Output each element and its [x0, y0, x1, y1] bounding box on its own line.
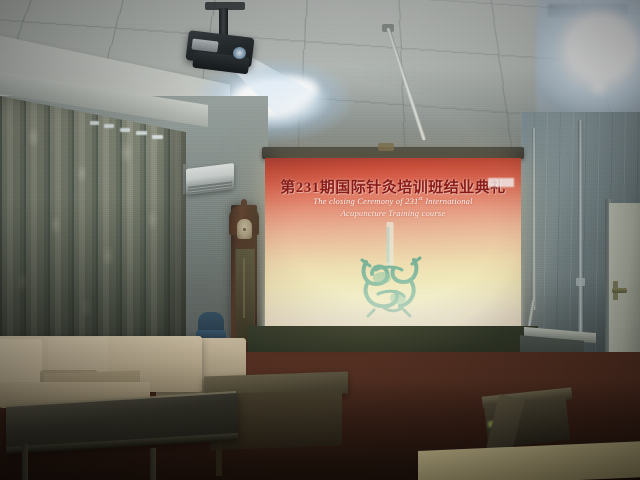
screen-case-clip — [378, 143, 394, 151]
room-photograph: 第231期国际针灸培训班结业典礼 The closing Ceremony of… — [0, 0, 640, 480]
ceiling-light-right-core — [566, 14, 638, 80]
coffee-table-front-leg-left — [22, 444, 28, 480]
daylight-sliver — [90, 121, 99, 125]
slide-subtitle-line-2: Acupuncture Training course — [265, 208, 521, 218]
daylight-sliver — [104, 124, 114, 128]
clock-finial — [241, 199, 247, 206]
daylight-sliver — [120, 128, 130, 132]
clock-center-dot — [243, 228, 246, 231]
screen-highlight-artifact — [488, 178, 514, 187]
slide-subtitle-line-1-post: International — [423, 196, 473, 206]
slide-title-chinese: 第231期国际针灸培训班结业典礼 — [265, 176, 521, 197]
wall-pipe-joint — [576, 278, 585, 286]
coffee-table-front-leg-right — [150, 448, 156, 480]
daylight-sliver — [136, 131, 147, 135]
wall-pipe-right — [578, 120, 583, 364]
projector-lens-icon — [233, 47, 246, 59]
wall-pipe-left — [532, 128, 536, 310]
door-handle-icon[interactable] — [612, 288, 627, 293]
slide-subtitle-line-2-text: Acupuncture Training course — [341, 208, 446, 218]
coffee-table-middle-leg — [216, 440, 222, 476]
ceiling-light-right-bloom — [586, 76, 612, 96]
slide-subtitle-line-1-pre: The closing Ceremony of 231 — [313, 196, 418, 206]
slide-subtitle-line-1: The closing Ceremony of 231st Internatio… — [265, 196, 521, 206]
dragon-coiled-acupuncture-needle-emblem — [352, 222, 428, 318]
daylight-sliver — [152, 135, 163, 139]
clock-pendulum-rod — [243, 258, 245, 318]
